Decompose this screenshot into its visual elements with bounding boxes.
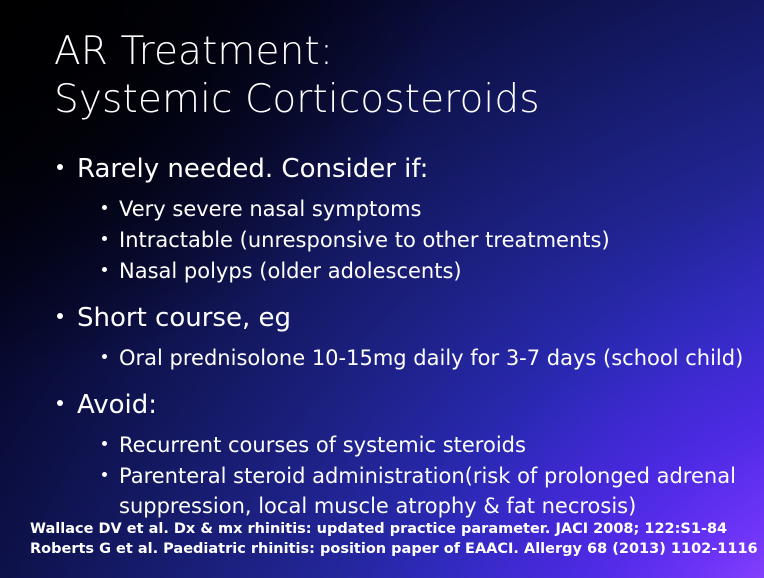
citation-line: Roberts G et al. Paediatric rhinitis: po… (30, 539, 754, 559)
citation-footer: Wallace DV et al. Dx & mx rhinitis: upda… (30, 519, 754, 559)
bullet-level1-text: Avoid: (77, 390, 157, 420)
presentation-slide: AR Treatment: Systemic Corticosteroids R… (0, 0, 764, 578)
spacer (50, 374, 750, 386)
bullet-level2-text: Nasal polyps (older adolescents) (119, 259, 462, 283)
bullet-level1: Rarely needed. Consider if: (50, 152, 750, 186)
bullet-level2: Intractable (unresponsive to other treat… (50, 225, 750, 255)
bullet-point-icon (102, 441, 107, 446)
bullet-point-icon (57, 164, 63, 170)
bullet-point-icon (102, 205, 107, 210)
citation-line: Wallace DV et al. Dx & mx rhinitis: upda… (30, 519, 754, 539)
bullet-level1: Avoid: (50, 388, 750, 422)
bullet-level2: Parenteral steroid administration(risk o… (50, 461, 750, 521)
bullet-level1: Short course, eg (50, 301, 750, 335)
bullet-point-icon (102, 354, 107, 359)
slide-body: Rarely needed. Consider if: Very severe … (50, 150, 750, 522)
spacer (50, 287, 750, 299)
bullet-level2: Very severe nasal symptoms (50, 194, 750, 224)
bullet-level2: Nasal polyps (older adolescents) (50, 256, 750, 286)
bullet-point-icon (102, 236, 107, 241)
bullet-level2-text: Parenteral steroid administration(risk o… (119, 464, 736, 518)
bullet-point-icon (102, 267, 107, 272)
bullet-level2-text: Recurrent courses of systemic steroids (119, 433, 526, 457)
spacer (50, 187, 750, 193)
bullet-level2-text: Oral prednisolone 10-15mg daily for 3-7 … (119, 346, 743, 370)
spacer (50, 423, 750, 429)
bullet-level2: Recurrent courses of systemic steroids (50, 430, 750, 460)
bullet-level1-text: Rarely needed. Consider if: (77, 154, 428, 184)
bullet-level2: Oral prednisolone 10-15mg daily for 3-7 … (50, 343, 750, 373)
bullet-point-icon (57, 313, 63, 319)
spacer (50, 336, 750, 342)
bullet-level2-text: Intractable (unresponsive to other treat… (119, 228, 610, 252)
bullet-point-icon (102, 472, 107, 477)
slide-title: AR Treatment: Systemic Corticosteroids (54, 28, 714, 124)
bullet-level2-text: Very severe nasal symptoms (119, 197, 422, 221)
bullet-level1-text: Short course, eg (77, 303, 291, 333)
bullet-point-icon (57, 400, 63, 406)
